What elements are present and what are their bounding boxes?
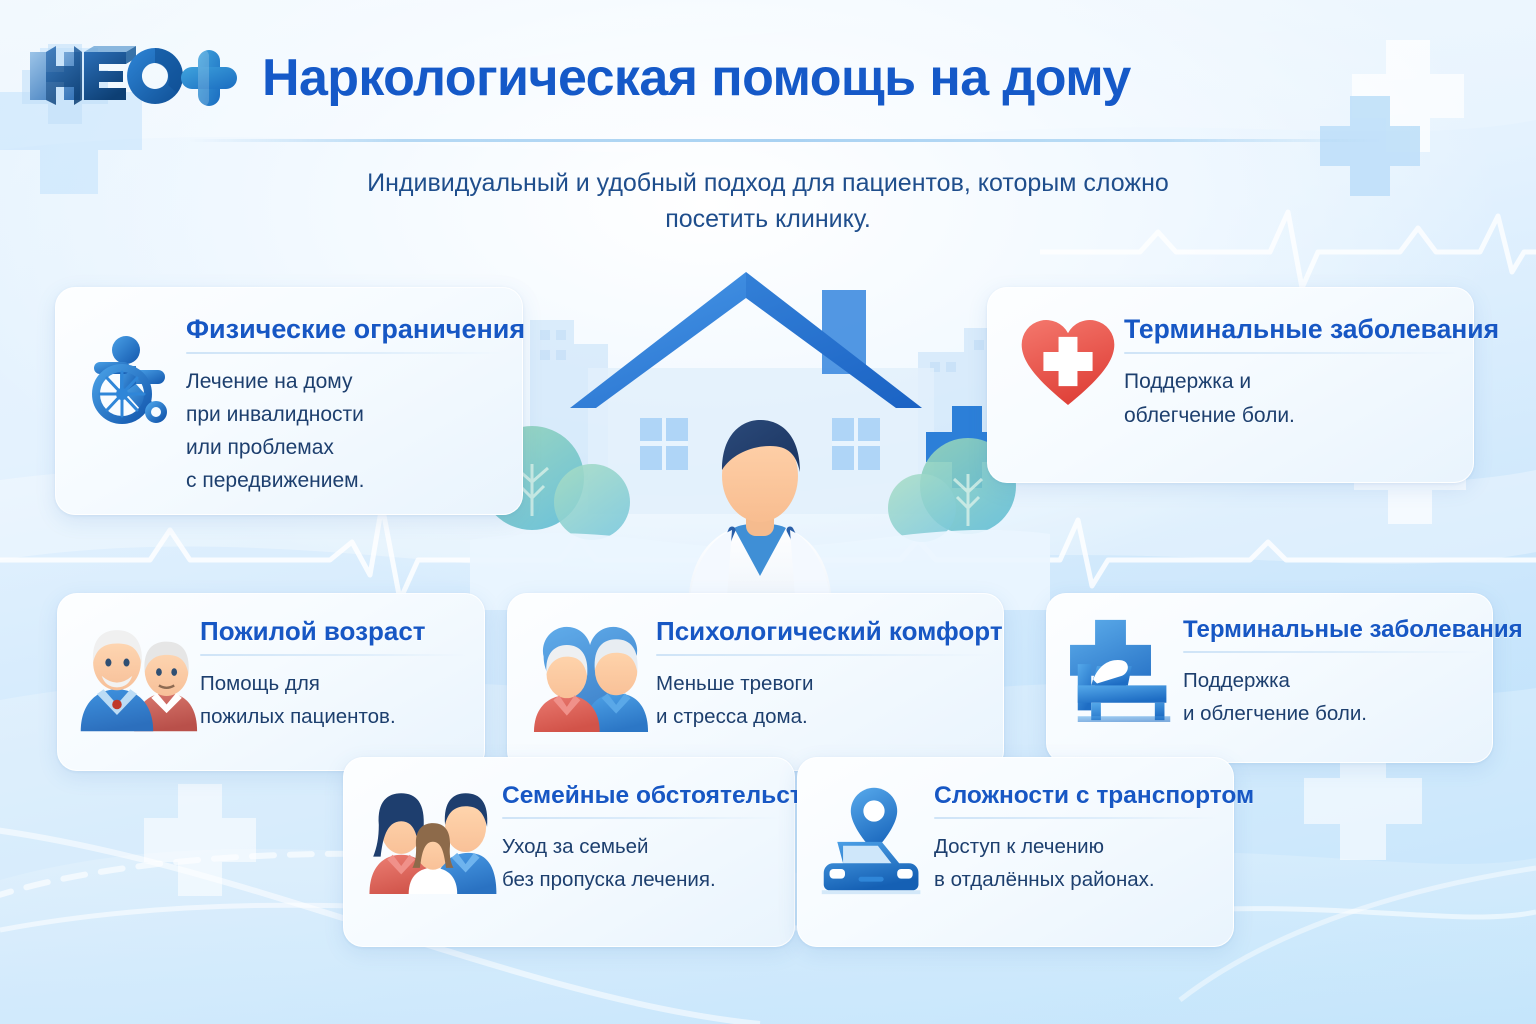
- card-body-line: Доступ к лечению: [934, 830, 1221, 863]
- card-body: Лечение на дому при инвалидности или про…: [186, 365, 504, 497]
- heart-cross-icon: [1012, 314, 1124, 482]
- card-body-line: пожилых пациентов.: [200, 700, 468, 733]
- card-body-line: при инвалидности: [186, 398, 504, 431]
- card-body-line: Помощь для: [200, 667, 468, 700]
- card-body: Доступ к лечению в отдалённых районах.: [934, 830, 1221, 896]
- card-title: Физические ограничения: [186, 314, 504, 345]
- hospital-bed-cross-icon: [1065, 616, 1183, 762]
- card-body: Меньше тревоги и стресса дома.: [656, 667, 989, 733]
- header-divider: [190, 139, 1380, 142]
- page-title: Наркологическая помощь на дому: [262, 48, 1131, 108]
- subtitle-line-1: Индивидуальный и удобный подход для паци…: [268, 165, 1268, 201]
- card-terminal-illness-heart[interactable]: Терминальные заболевания Поддержка и обл…: [987, 287, 1474, 483]
- wheelchair-icon: [78, 314, 186, 514]
- card-divider: [186, 352, 504, 354]
- card-body: Поддержка и облегчение боли.: [1183, 664, 1480, 730]
- card-body-line: с передвижением.: [186, 464, 504, 497]
- subtitle-line-2: посетить клинику.: [268, 201, 1268, 237]
- card-elderly-age[interactable]: Пожилой возраст Помощь для пожилых пацие…: [57, 593, 485, 771]
- card-title: Терминальные заболевания: [1124, 314, 1459, 345]
- page-subtitle: Индивидуальный и удобный подход для паци…: [268, 165, 1268, 237]
- two-people-heart-icon: [526, 616, 656, 770]
- card-divider: [1183, 651, 1480, 653]
- card-body-line: Поддержка: [1183, 664, 1480, 697]
- card-body: Поддержка и облегчение боли.: [1124, 365, 1459, 433]
- card-title: Пожилой возраст: [200, 616, 468, 647]
- elderly-couple-icon: [74, 616, 200, 770]
- infographic-canvas: Наркологическая помощь на дому Индивидуа…: [0, 0, 1536, 1024]
- doctor-at-home-illustration: [470, 258, 1050, 610]
- card-body-line: и облегчение боли.: [1183, 697, 1480, 730]
- card-divider: [934, 817, 1221, 819]
- card-physical-limitations[interactable]: Физические ограничения Лечение на дому п…: [55, 287, 523, 515]
- card-terminal-illness-bed[interactable]: Терминальные заболевания Поддержка и обл…: [1046, 593, 1493, 763]
- card-body-line: без пропуска лечения.: [502, 863, 782, 896]
- card-body-line: Поддержка и: [1124, 365, 1459, 399]
- card-body: Уход за семьей без пропуска лечения.: [502, 830, 782, 896]
- page-header: Наркологическая помощь на дому Индивидуа…: [0, 0, 1536, 150]
- card-psychological-comfort[interactable]: Психологический комфорт Меньше тревоги и…: [507, 593, 1004, 771]
- card-family-circumstances[interactable]: Семейные обстоятельства Уход за семьей б…: [343, 757, 795, 947]
- card-body-line: в отдалённых районах.: [934, 863, 1221, 896]
- card-title: Терминальные заболевания: [1183, 616, 1480, 644]
- card-body-line: Меньше тревоги: [656, 667, 989, 700]
- card-body: Помощь для пожилых пациентов.: [200, 667, 468, 733]
- neo-plus-logo: [22, 38, 262, 124]
- card-body-line: Лечение на дому: [186, 365, 504, 398]
- card-body-line: или проблемах: [186, 431, 504, 464]
- card-divider: [656, 654, 989, 656]
- card-body-line: Уход за семьей: [502, 830, 782, 863]
- card-transport-difficulties[interactable]: Сложности с транспортом Доступ к лечению…: [797, 757, 1234, 947]
- card-title: Семейные обстоятельства: [502, 782, 782, 810]
- card-body-line: облегчение боли.: [1124, 399, 1459, 433]
- car-location-pin-icon: [814, 782, 934, 946]
- card-title: Сложности с транспортом: [934, 782, 1221, 810]
- card-divider: [502, 817, 782, 819]
- card-title: Психологический комфорт: [656, 616, 989, 647]
- card-divider: [1124, 352, 1459, 354]
- card-divider: [200, 654, 468, 656]
- card-body-line: и стресса дома.: [656, 700, 989, 733]
- family-icon: [362, 782, 502, 946]
